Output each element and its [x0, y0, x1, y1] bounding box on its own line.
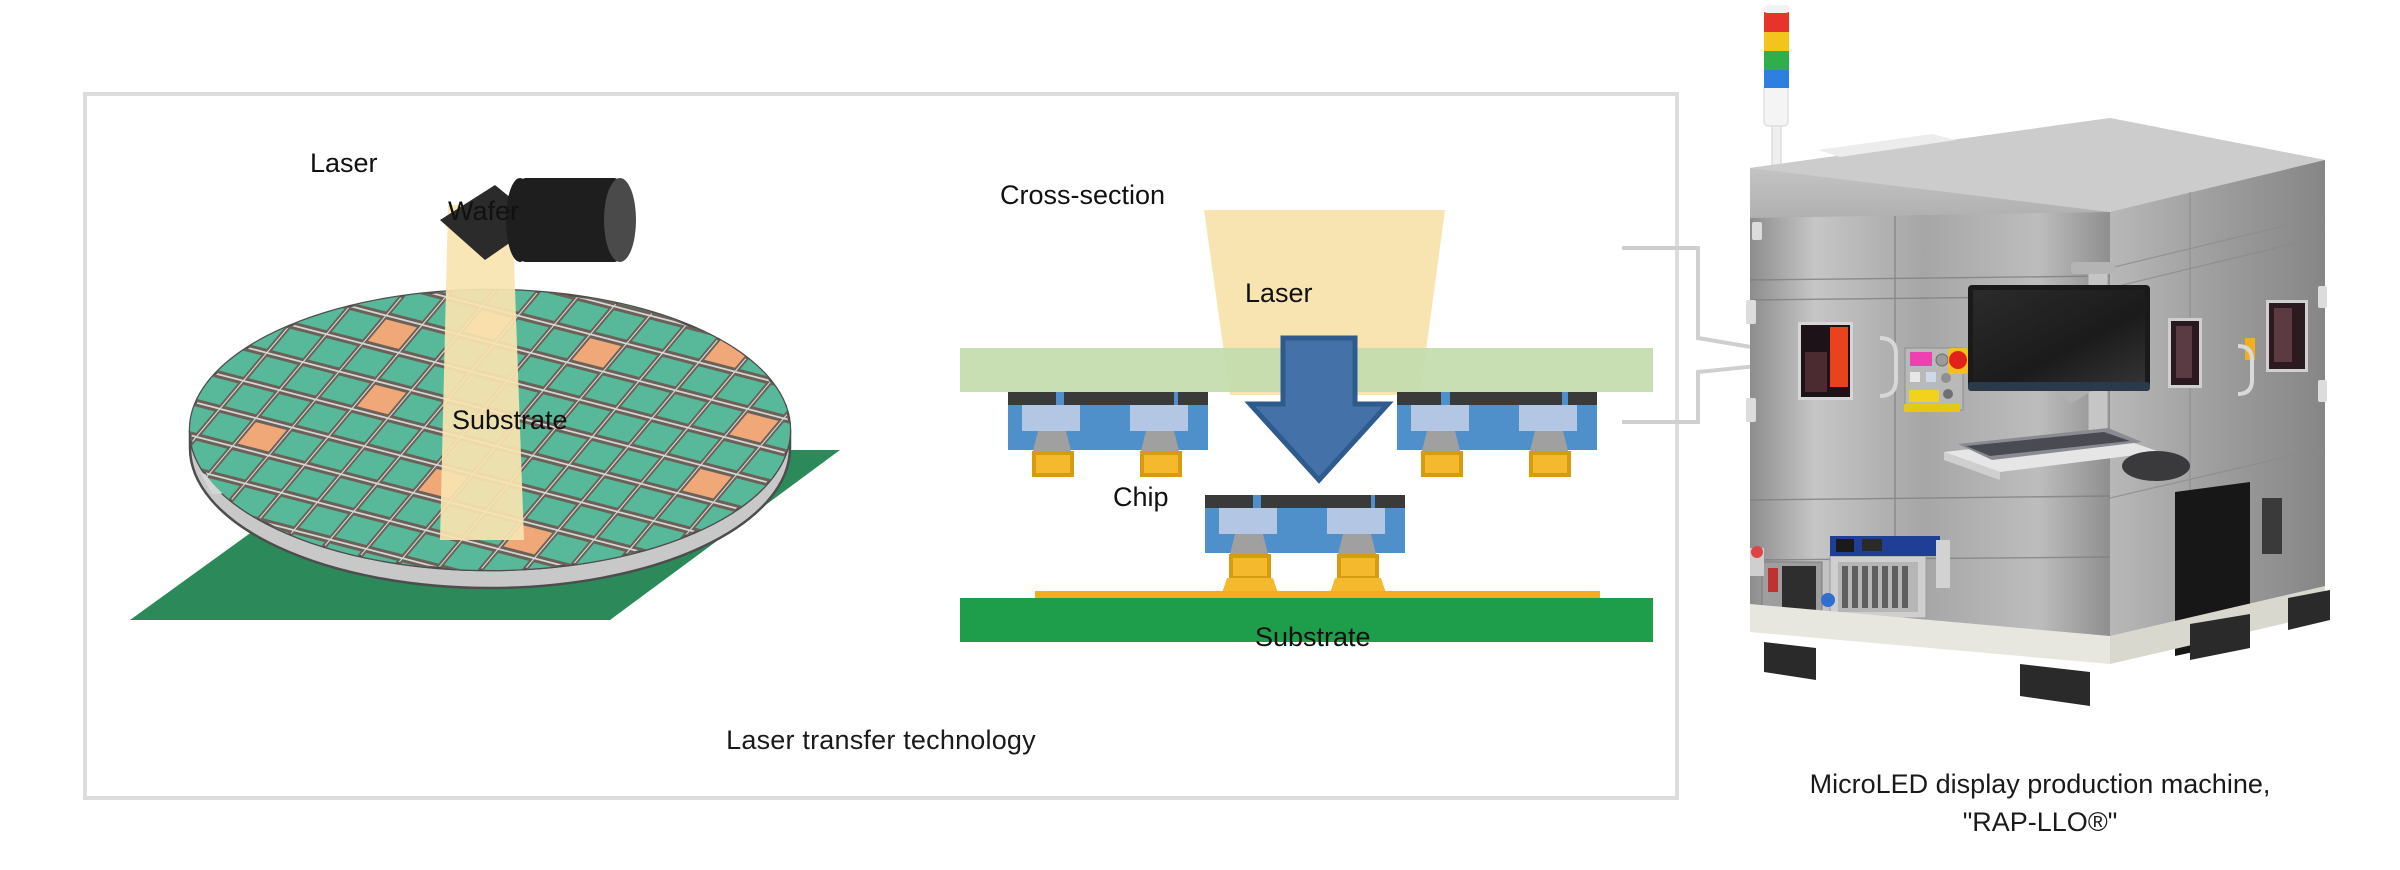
wafer-die: [388, 187, 441, 220]
wafer-die: [726, 309, 779, 342]
wafer-die: [341, 243, 394, 276]
label-laser-xsec: Laser: [1245, 278, 1313, 309]
wafer-die: [129, 495, 182, 528]
operator-monitor: [1968, 285, 2150, 391]
label-substrate-xsec: Substrate: [1255, 622, 1371, 653]
wafer-die: [304, 234, 357, 267]
machine-caption-line1: MicroLED display production machine,: [1810, 769, 2271, 799]
substrate-trace: [1035, 591, 1600, 598]
machine-caption-line2: "RAP-LLO®": [1690, 803, 2390, 841]
wafer-die: [762, 318, 815, 351]
wafer-die: [317, 271, 370, 304]
figure-canvas: Laser Wafer Substrate: [0, 0, 2400, 870]
wafer-die: [106, 523, 159, 556]
wafer-die: [467, 617, 520, 650]
wafer-die: [834, 337, 887, 370]
wafer-die: [400, 225, 453, 258]
chip-on-carrier-left: [1008, 392, 1208, 475]
transferred-chip: [1205, 495, 1405, 596]
wafer-die: [858, 309, 911, 342]
wafer-die: [100, 486, 146, 519]
wafer-isometric-illustration: [100, 100, 920, 700]
label-wafer: Wafer: [448, 196, 519, 227]
inspection-window-mid: [2168, 318, 2202, 388]
wafer-die: [821, 299, 874, 332]
wafer-die: [811, 365, 864, 398]
wafer-die: [774, 355, 827, 388]
wafer-die: [785, 290, 838, 323]
label-chip: Chip: [1113, 482, 1169, 513]
wafer-die: [328, 206, 381, 239]
mouse: [2122, 451, 2190, 481]
wafer-die: [281, 262, 334, 295]
label-laser-iso: Laser: [310, 148, 378, 179]
wafer-die: [713, 271, 766, 304]
wafer-die: [503, 626, 556, 659]
rap-llo-machine-photo: [1690, 0, 2400, 770]
operator-control-panel: [1904, 348, 1968, 412]
inspection-window-left: [1798, 322, 1853, 400]
wafer-die: [377, 253, 430, 286]
wafer-die: [142, 533, 195, 566]
wafer-die: [576, 645, 629, 678]
wafer-die: [641, 253, 694, 286]
wafer-die: [545, 262, 598, 295]
wafer-die: [100, 514, 123, 547]
wafer-die: [787, 393, 840, 426]
cross-section-illustration: [960, 150, 1660, 650]
wafer-die: [165, 505, 218, 538]
wafer-die: [140, 430, 193, 463]
wafer-die: [599, 617, 652, 650]
wafer-die: [689, 299, 742, 332]
wafer-die: [116, 458, 169, 491]
chip-on-carrier-right: [1397, 392, 1597, 475]
wafer-die: [677, 262, 730, 295]
wafer-die: [351, 178, 404, 211]
wafer-die: [257, 290, 310, 323]
wafer-die: [798, 327, 851, 360]
label-substrate-iso: Substrate: [452, 405, 568, 436]
wafer-die: [364, 215, 417, 248]
machine-caption: MicroLED display production machine, "RA…: [1690, 765, 2390, 842]
panel-caption: Laser transfer technology: [83, 725, 1679, 756]
wafer-die: [539, 635, 592, 668]
label-cross-section: Cross-section: [1000, 180, 1165, 211]
wafer-die: [749, 281, 802, 314]
